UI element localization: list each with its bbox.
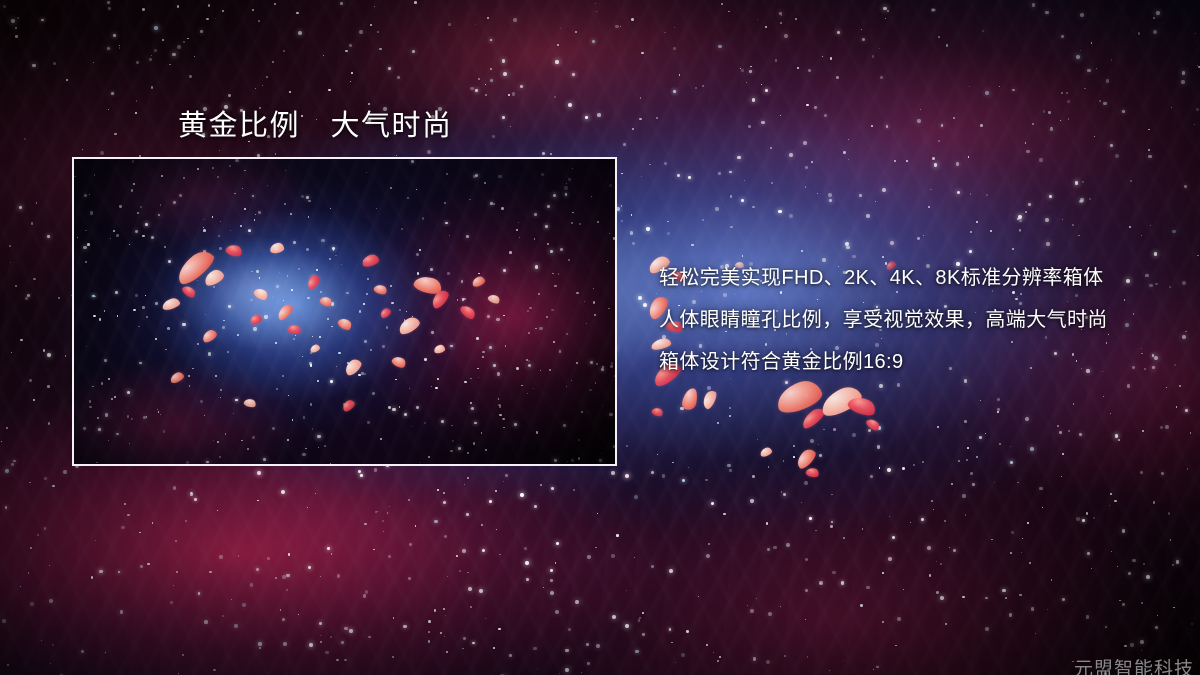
presentation-slide: 黄金比例 大气时尚 轻松完美实现FHD、2K、4K、8K标准分辨率箱体 人体眼睛… — [0, 0, 1200, 675]
body-line-3: 箱体设计符合黄金比例16:9 — [659, 341, 1169, 383]
petal — [651, 406, 664, 418]
led-screen-frame[interactable] — [72, 157, 617, 466]
petal — [817, 382, 864, 419]
watermark: 元盟智能科技 — [1074, 654, 1194, 675]
petal — [846, 393, 878, 418]
petal — [805, 466, 820, 478]
petal — [681, 387, 699, 411]
body-line-1: 轻松完美实现FHD、2K、4K、8K标准分辨率箱体 — [659, 257, 1169, 299]
petal — [759, 446, 773, 458]
petal — [865, 417, 882, 433]
frame-vignette — [74, 159, 615, 464]
petal — [700, 389, 719, 411]
page-title: 黄金比例 大气时尚 — [178, 102, 453, 144]
body-text-block: 轻松完美实现FHD、2K、4K、8K标准分辨率箱体 人体眼睛瞳孔比例，享受视觉效… — [659, 257, 1169, 383]
body-line-2: 人体眼睛瞳孔比例，享受视觉效果，高端大气时尚 — [659, 299, 1169, 341]
petal — [794, 446, 819, 471]
petal — [799, 405, 827, 430]
